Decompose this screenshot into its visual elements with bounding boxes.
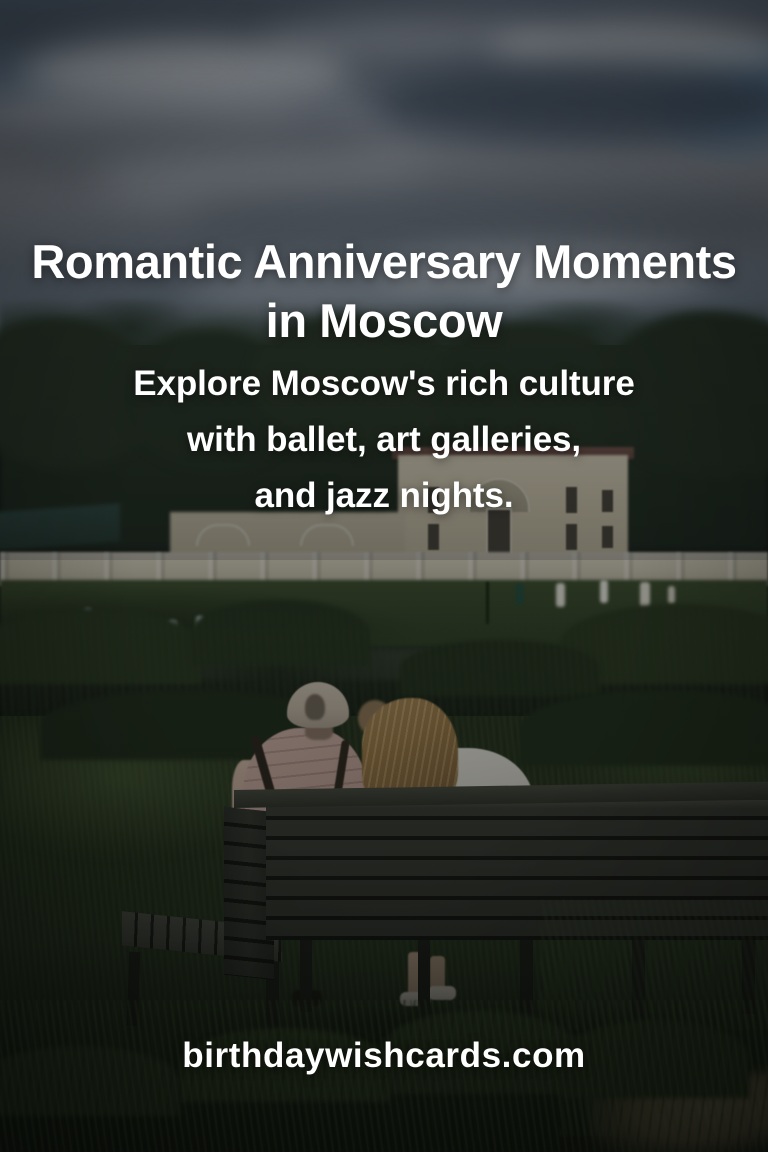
- footer-website-url[interactable]: birthdaywishcards.com: [0, 1036, 768, 1076]
- subtitle-line-1: Explore Moscow's rich culture: [40, 356, 728, 412]
- subtitle: Explore Moscow's rich culture with balle…: [0, 356, 768, 524]
- text-overlay: Romantic Anniversary Moments in Moscow E…: [0, 0, 768, 1152]
- headline: Romantic Anniversary Moments in Moscow: [0, 232, 768, 350]
- pin-card: Romantic Anniversary Moments in Moscow E…: [0, 0, 768, 1152]
- subtitle-line-3: and jazz nights.: [40, 468, 728, 524]
- subtitle-line-2: with ballet, art galleries,: [40, 412, 728, 468]
